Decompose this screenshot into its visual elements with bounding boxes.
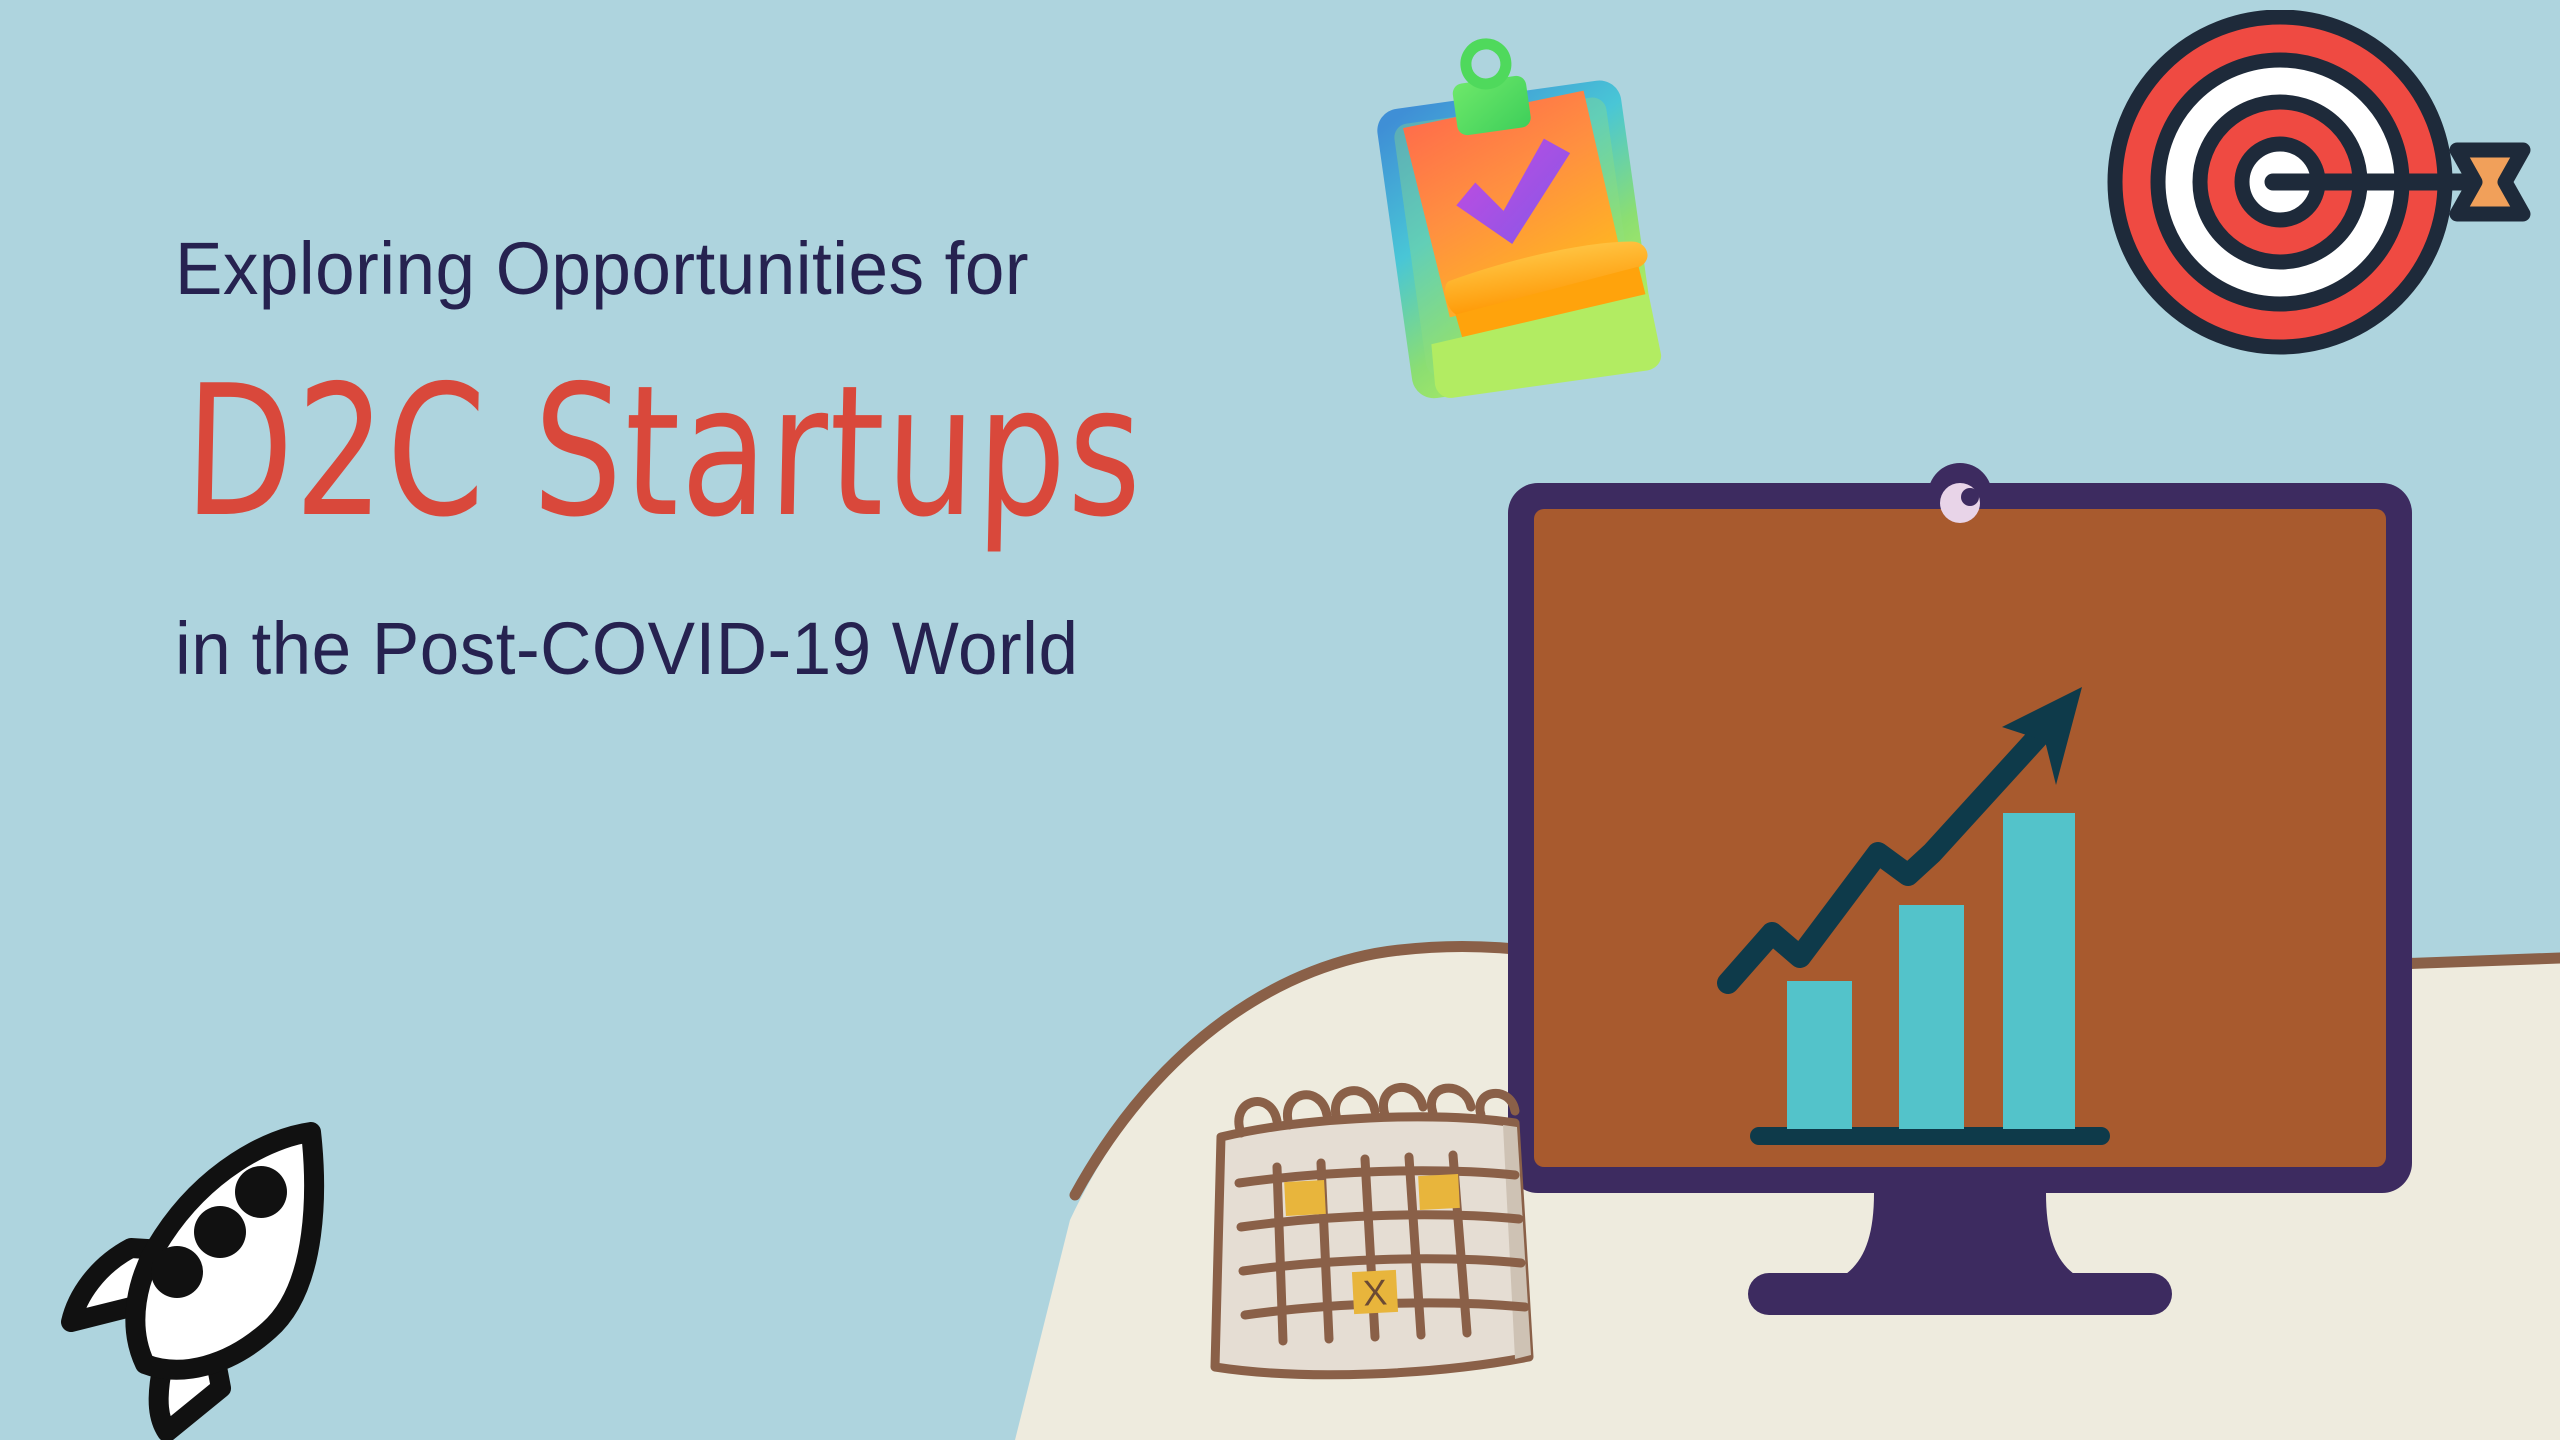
chart-bar xyxy=(1899,905,1964,1129)
chart-baseline xyxy=(1750,1127,2110,1145)
rocket-porthole xyxy=(235,1166,287,1218)
desktop-monitor-icon xyxy=(1500,455,2420,1325)
calendar-icon: X xyxy=(1185,1075,1565,1440)
chart-bar xyxy=(1787,981,1852,1129)
headline-block: Exploring Opportunities for D2C Startups… xyxy=(175,230,1425,687)
headline-line-3: in the Post-COVID-19 World xyxy=(175,610,1375,688)
arrow-fletching xyxy=(2457,150,2523,214)
webcam-pupil xyxy=(1961,488,1979,506)
rocket-porthole xyxy=(151,1246,203,1298)
calendar-highlight-cell xyxy=(1418,1174,1460,1210)
headline-line-2-d2c-startups: D2C Startups xyxy=(183,361,1203,542)
clipboard-check-icon xyxy=(1355,20,1695,400)
rocket-porthole xyxy=(194,1206,246,1258)
target-dartboard-icon xyxy=(2105,10,2545,360)
monitor-stand-base xyxy=(1748,1273,2172,1315)
calendar-highlight-cell xyxy=(1284,1180,1326,1216)
chart-bar xyxy=(2003,813,2075,1129)
calendar-x-mark: X xyxy=(1362,1271,1388,1313)
banner-canvas: Exploring Opportunities for D2C Startups… xyxy=(0,0,2560,1440)
headline-line-1: Exploring Opportunities for xyxy=(175,230,1375,308)
rocket-icon xyxy=(55,1110,355,1440)
